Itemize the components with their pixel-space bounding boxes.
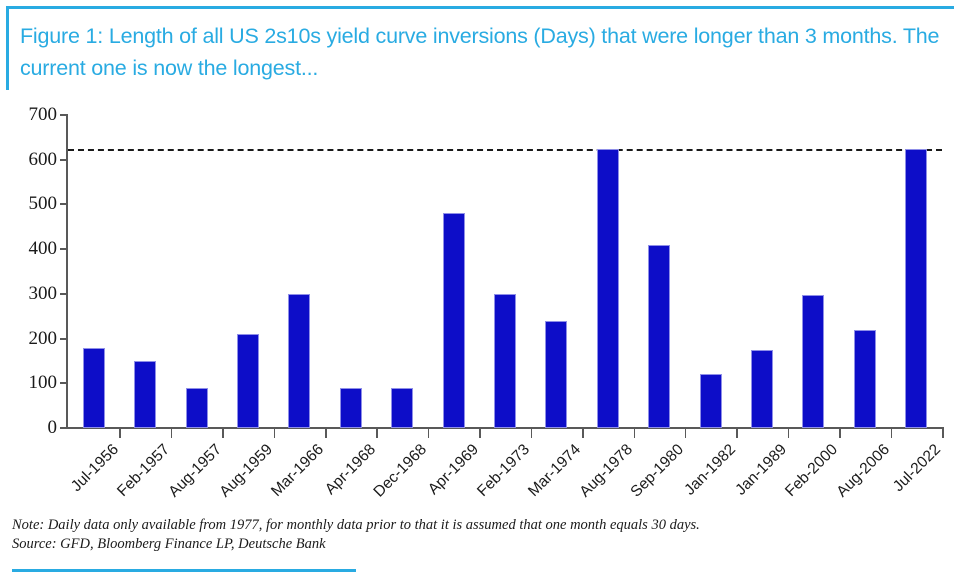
footnotes: Note: Daily data only available from 197… [12, 516, 700, 554]
bar [905, 149, 927, 428]
y-tick-mark [60, 114, 68, 116]
y-tick-label: 0 [48, 417, 58, 439]
y-tick-mark [60, 159, 68, 161]
y-tick-mark [60, 338, 68, 340]
y-tick-mark [60, 427, 68, 429]
source-line: Source: GFD, Bloomberg Finance LP, Deuts… [12, 535, 700, 554]
y-tick-label: 300 [29, 283, 58, 305]
plot-area: 0100200300400500600700 [68, 115, 942, 428]
figure-container: Figure 1: Length of all US 2s10s yield c… [0, 0, 960, 585]
y-tick-label: 700 [29, 104, 58, 126]
header-left-accent [6, 6, 9, 90]
y-tick-mark [60, 248, 68, 250]
y-tick-label: 200 [29, 328, 58, 350]
bar-series [68, 115, 942, 428]
bar [83, 348, 105, 428]
note-line: Note: Daily data only available from 197… [12, 516, 700, 535]
y-tick-label: 600 [29, 149, 58, 171]
y-tick-mark [60, 293, 68, 295]
y-tick-label: 400 [29, 238, 58, 260]
header-top-rule [6, 6, 954, 9]
footer-bottom-rule [12, 569, 356, 572]
x-tick-label-text: Jul-2022 [890, 441, 945, 496]
figure-title: Figure 1: Length of all US 2s10s yield c… [20, 20, 944, 84]
y-tick-label: 500 [29, 193, 58, 215]
y-tick-mark [60, 203, 68, 205]
bar [597, 149, 619, 428]
y-tick-mark [60, 382, 68, 384]
y-tick-label: 100 [29, 372, 58, 394]
